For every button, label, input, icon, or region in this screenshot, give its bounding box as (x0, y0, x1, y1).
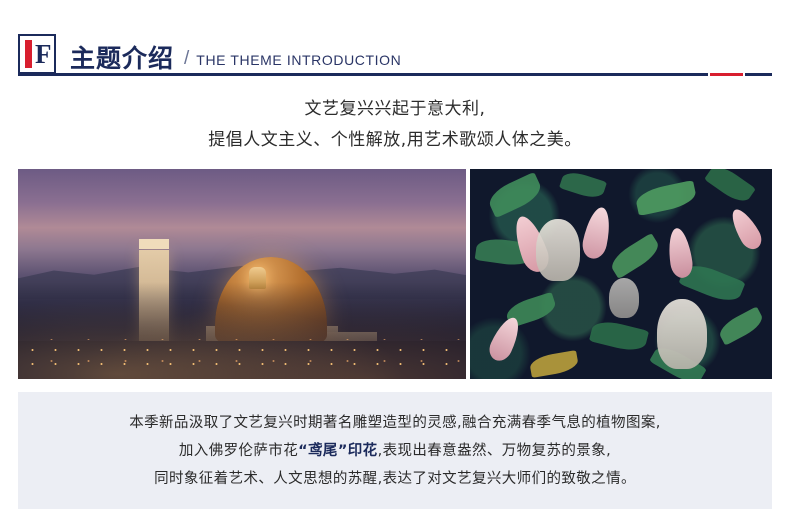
duomo-scene (18, 169, 466, 379)
leaf-shape (529, 350, 580, 378)
description-line-1: 本季新品汲取了文艺复兴时期著名雕塑造型的灵感,融合充满春季气息的植物图案, (129, 409, 661, 437)
header-divider (18, 73, 772, 76)
botanical-pattern (470, 169, 772, 379)
header-title-group: F 主题介绍 / THE THEME INTRODUCTION (18, 30, 401, 74)
leaf-shape (559, 169, 607, 202)
theme-introduction-page: F 主题介绍 / THE THEME INTRODUCTION 文艺复兴兴起于意… (0, 0, 790, 528)
image-row (18, 169, 772, 379)
dark-botanical-print-photo (470, 169, 772, 379)
lead-line-1: 文艺复兴兴起于意大利, (0, 94, 790, 125)
logo-red-bar (25, 40, 32, 68)
page-title-en: THE THEME INTRODUCTION (196, 46, 401, 74)
cherub-statue-figure (657, 299, 707, 369)
page-header: F 主题介绍 / THE THEME INTRODUCTION (0, 0, 790, 92)
divider-segment-navy-right (745, 73, 772, 76)
leaf-shape (607, 232, 663, 278)
description-line-2-part-a: 加入佛罗伦萨市花 (179, 443, 298, 459)
description-highlight-iris: “鸢尾”印花 (298, 443, 377, 459)
leaf-shape (485, 171, 545, 217)
leaf-shape (704, 169, 756, 207)
pink-petal-shape (666, 227, 695, 280)
divider-segment-red (710, 73, 743, 76)
description-line-3: 同时象征着艺术、人文思想的苏醒,表达了对文艺复兴大师们的致敬之情。 (129, 465, 661, 493)
lead-paragraph: 文艺复兴兴起于意大利, 提倡人文主义、个性解放,用艺术歌颂人体之美。 (0, 94, 790, 156)
divider-segment-navy-left (18, 73, 708, 76)
fila-logo-icon: F (18, 34, 56, 74)
theme-description-lines: 本季新品汲取了文艺复兴时期著名雕塑造型的灵感,融合充满春季气息的植物图案, 加入… (129, 409, 661, 493)
florence-duomo-dusk-photo (18, 169, 466, 379)
leaf-shape (716, 306, 766, 345)
description-line-2: 加入佛罗伦萨市花“鸢尾”印花,表现出春意盎然、万物复苏的景象, (129, 437, 661, 465)
city-lights (18, 339, 466, 368)
page-title-cn: 主题介绍 (70, 44, 174, 74)
leaf-shape (634, 180, 698, 216)
theme-description-block: 本季新品汲取了文艺复兴时期著名雕塑造型的灵感,融合充满春季气息的植物图案, 加入… (18, 392, 772, 509)
campanile-top (139, 239, 169, 249)
lead-line-2: 提倡人文主义、个性解放,用艺术歌颂人体之美。 (0, 125, 790, 156)
pink-petal-shape (580, 205, 614, 261)
logo-letter: F (35, 40, 49, 68)
title-separator: / (184, 44, 189, 74)
pink-petal-shape (726, 205, 765, 253)
leaf-shape (589, 318, 649, 355)
description-line-2-part-b: ,表现出春意盎然、万物复苏的景象, (378, 443, 612, 459)
cherub-statue-figure (536, 219, 580, 281)
cherub-statue-figure (609, 278, 639, 318)
